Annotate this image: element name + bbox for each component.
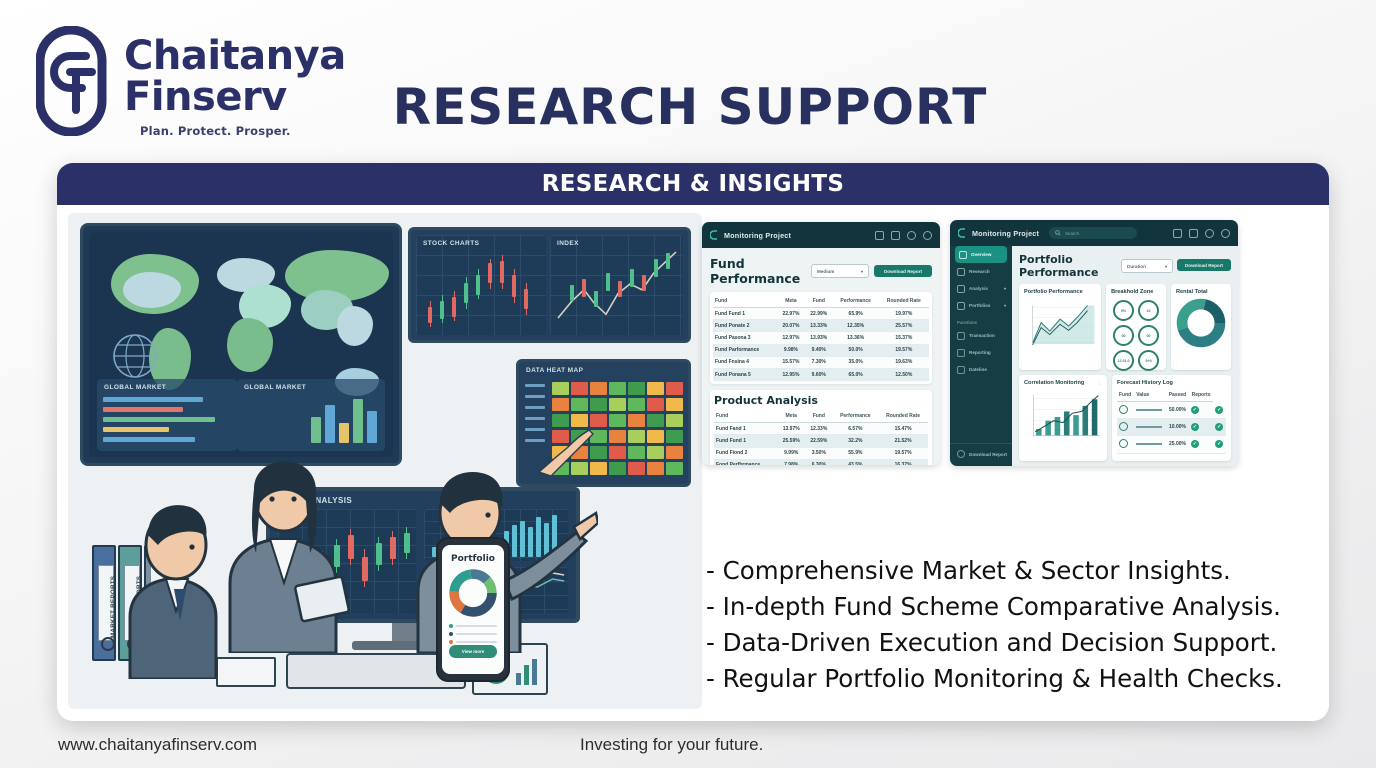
table-cell: 9.40% <box>805 344 833 356</box>
table-cell: Fund Fund 1 <box>713 308 777 320</box>
card-title: Breakhold Zone <box>1111 289 1161 295</box>
bullet-item-2: - In-depth Fund Scheme Comparative Analy… <box>706 589 1306 625</box>
column-header: Value <box>1134 389 1166 402</box>
bar-line-chart <box>1024 389 1102 445</box>
heat-map-cell[interactable] <box>571 398 588 411</box>
heat-map-cell[interactable] <box>666 398 683 411</box>
metric-ring-value: 00 <box>1147 334 1151 338</box>
table-cell: Fund Ponate 2 <box>713 320 777 332</box>
metric-ring-value: 10 <box>1147 309 1151 313</box>
column-header: Passed <box>1166 389 1189 402</box>
table-cell: 13.36% <box>833 332 879 344</box>
check-icon: ✓ <box>1189 402 1213 419</box>
sidebar-item-overview[interactable]: Overview <box>955 246 1007 263</box>
bullet-item-4: - Regular Portfolio Monitoring & Health … <box>706 661 1306 697</box>
column-header: Fund <box>713 295 777 308</box>
table-cell: Fund Pasona 3 <box>713 332 777 344</box>
sidebar-item-transaction[interactable]: Transaction <box>950 327 1012 344</box>
table-cell: 25.00% <box>1166 436 1189 453</box>
table-cell: 9.60% <box>805 368 833 380</box>
search-icon <box>1055 230 1061 236</box>
table-cell: 43.5% <box>833 459 879 465</box>
rental-total-card: Rental Total <box>1171 284 1231 370</box>
gear-icon[interactable] <box>907 231 916 240</box>
duration-value: Duration <box>1127 264 1146 269</box>
metric-ring-value: 0% <box>1121 309 1126 313</box>
chevron-down-icon: ▾ <box>1165 264 1167 269</box>
heat-map-cell[interactable] <box>647 382 664 395</box>
more-icon[interactable]: ⋮ <box>1097 380 1102 386</box>
table-cell: 12.95% <box>777 368 805 380</box>
table-cell: 20.07% <box>777 320 805 332</box>
sidebar-item-label: Dateline <box>969 367 987 372</box>
search-input[interactable]: Search <box>1049 227 1137 239</box>
portfolio-donut-chart <box>448 568 498 618</box>
download-report-label: Download Report <box>1185 263 1223 268</box>
column-header: Meta <box>777 410 805 423</box>
chevron-down-icon: ▾ <box>861 269 863 274</box>
row-avatar-icon <box>1117 436 1134 453</box>
column-header: Fund <box>805 295 833 308</box>
row-avatar-icon <box>1117 419 1134 436</box>
column-header: Meta <box>777 295 805 308</box>
legend-dot-icon <box>449 632 453 636</box>
heat-map-cell[interactable] <box>628 414 645 427</box>
table-cell: 12.50% <box>879 368 929 380</box>
metric-ring: 00 <box>1113 325 1134 346</box>
world-map-panel-label: GLOBAL MARKET <box>104 384 166 391</box>
table-cell: 3.50% <box>805 447 833 459</box>
phone-title: Portfolio <box>442 554 504 564</box>
footer-website[interactable]: www.chaitanyafinserv.com <box>58 735 257 755</box>
download-report-button[interactable]: Download Report <box>1177 259 1231 271</box>
heat-map-cell[interactable] <box>628 398 645 411</box>
feature-bullet-list: - Comprehensive Market & Sector Insights… <box>706 553 1306 697</box>
row-value-bar <box>1134 419 1166 436</box>
app-logo-icon <box>958 228 967 239</box>
table-cell: 19.63% <box>879 356 929 368</box>
dashboard-sidebar: OverviewResearchAnalysis▾Portfolios▾ Fun… <box>950 246 1012 466</box>
sidebar-item-label: Reporting <box>969 350 991 355</box>
table-cell: 50.0% <box>833 344 879 356</box>
table-cell: 22.59% <box>805 435 833 447</box>
correlation-monitoring-card: Correlation Monitoring ⋮ <box>1019 375 1107 461</box>
table-row[interactable]: Fund Ponate 220.07%13.33%12.35%25.57% <box>713 320 929 332</box>
forecast-history-table: FundValuePassedReports 50.00%✓✓10.00%✓✓2… <box>1117 389 1226 454</box>
download-icon <box>957 450 965 458</box>
sidebar-item-reporting[interactable]: Reporting <box>950 344 1012 361</box>
page-header: Chaitanya Finserv Plan. Protect. Prosper… <box>0 0 1376 160</box>
table-cell: 50.00% <box>1166 402 1189 419</box>
metric-ring: 00 <box>1138 325 1159 346</box>
heat-map-cell[interactable] <box>666 414 683 427</box>
portfolio-performance-card: Portfolio Performance <box>1019 284 1101 370</box>
bell-icon[interactable] <box>1189 229 1198 238</box>
table-cell: 55.9% <box>833 447 879 459</box>
search-placeholder: Search <box>1065 231 1079 236</box>
user-icon[interactable] <box>923 231 932 240</box>
table-cell: 65.0% <box>833 368 879 380</box>
table-cell: 21.52% <box>878 435 928 447</box>
document-icon <box>957 268 965 276</box>
phone-cta-button[interactable]: View more <box>449 645 497 658</box>
table-cell: Fund Fiond 2 <box>714 447 777 459</box>
sidebar-item-label: Transaction <box>969 333 995 338</box>
table-row[interactable]: Fund Parformance9.98%9.40%50.0%19.57% <box>713 344 929 356</box>
card-title: Rental Total <box>1176 289 1226 295</box>
user-icon[interactable] <box>1221 229 1230 238</box>
refresh-icon[interactable] <box>875 231 884 240</box>
sidebar-item-analysis[interactable]: Analysis▾ <box>950 280 1012 297</box>
heat-map-cell[interactable] <box>571 382 588 395</box>
sidebar-item-portfolios[interactable]: Portfolios▾ <box>950 297 1012 314</box>
table-cell: 12.97% <box>777 332 805 344</box>
table-row[interactable]: Fund Fund 122.97%22.99%65.9%19.97% <box>713 308 929 320</box>
app-logo-icon <box>710 230 719 241</box>
report-icon <box>957 349 965 357</box>
column-header: Fund <box>1117 389 1134 402</box>
table-cell: 19.57% <box>879 344 929 356</box>
fund-performance-heading: Fund Performance <box>710 256 811 286</box>
download-report-button[interactable]: Download Report <box>874 265 932 277</box>
heat-map-cell[interactable] <box>552 398 569 411</box>
table-row[interactable]: Fund Fand 113.97%12.33%6.57%15.47% <box>714 423 928 435</box>
area-line-chart <box>1024 298 1096 354</box>
metric-ring: 0+0 <box>1138 350 1159 371</box>
heat-map-cell[interactable] <box>647 462 664 475</box>
check-icon: ✓ <box>1189 419 1213 436</box>
dashboard-main-area: Portfolio Performance Duration ▾ Downloa… <box>1012 246 1238 466</box>
table-cell: 12.35% <box>833 320 879 332</box>
heat-map-cell[interactable] <box>609 382 626 395</box>
portfolio-performance-heading: Portfolio Performance <box>1019 253 1121 279</box>
brand-tagline: Plan. Protect. Prosper. <box>140 124 346 138</box>
heat-map-cell[interactable] <box>666 430 683 443</box>
gear-icon[interactable] <box>1205 229 1214 238</box>
metric-ring: 0% <box>1113 300 1134 321</box>
product-analysis-table: FundMetaFundPerformanceRounded Rate Fund… <box>714 410 928 465</box>
section-banner: RESEARCH & INSIGHTS <box>57 163 1329 205</box>
table-row[interactable]: 25.00%✓✓ <box>1117 436 1226 453</box>
table-cell: 15.57% <box>777 356 805 368</box>
card-title: Portfolio Performance <box>1024 289 1096 295</box>
stock-charts-label: STOCK CHARTS <box>423 240 479 247</box>
table-row[interactable]: Fund Fund 125.59%22.59%32.2%21.52% <box>714 435 928 447</box>
heat-map-cell[interactable] <box>628 382 645 395</box>
bullet-item-1: - Comprehensive Market & Sector Insights… <box>706 553 1306 589</box>
table-cell: 6.57% <box>833 423 879 435</box>
metric-ring-value: 00 <box>1122 334 1126 338</box>
stock-charts-screen: STOCK CHARTS INDEX <box>408 227 691 343</box>
heat-map-cell[interactable] <box>609 462 626 475</box>
sidebar-item-label: Portfolios <box>969 303 990 308</box>
column-header: Rounded Rate <box>879 295 929 308</box>
table-cell: 22.99% <box>805 308 833 320</box>
sidebar-item-download-report[interactable]: Download Report <box>950 443 1012 460</box>
metric-ring: 12 01.0 <box>1113 350 1134 371</box>
heat-map-cell[interactable] <box>647 446 664 459</box>
table-header-row: FundMetaFundPerformanceRounded Rate <box>713 295 929 308</box>
fund-performance-dashboard[interactable]: Monitoring Project Fund Performance Medi… <box>702 222 940 465</box>
table-cell: 16.37% <box>878 459 928 465</box>
section-banner-label: RESEARCH & INSIGHTS <box>542 171 844 197</box>
chevron-down-icon: ▾ <box>1004 286 1006 291</box>
table-cell: 15.47% <box>878 423 928 435</box>
legend-dot-icon <box>449 640 453 644</box>
table-cell: 9.98% <box>777 344 805 356</box>
table-row[interactable]: Fund Pasona 312.97%13.93%13.36%15.37% <box>713 332 929 344</box>
table-cell: 22.97% <box>777 308 805 320</box>
column-header: Rounded Rate <box>878 410 928 423</box>
table-cell: 15.37% <box>879 332 929 344</box>
table-header-row: FundMetaFundPerformanceRounded Rate <box>714 410 928 423</box>
heat-map-cell[interactable] <box>609 414 626 427</box>
table-cell: 35.0% <box>833 356 879 368</box>
table-cell: 13.93% <box>805 332 833 344</box>
sidebar-footer-label: Download Report <box>969 452 1007 457</box>
heat-map-cell[interactable] <box>666 382 683 395</box>
metric-ring-value: 0+0 <box>1145 359 1151 363</box>
card-title: Correlation Monitoring <box>1024 380 1084 386</box>
sidebar-section-label: Functions <box>950 320 1012 325</box>
bell-icon[interactable] <box>891 231 900 240</box>
phone-cta-label: View more <box>462 649 484 654</box>
table-cell: Fund Fand 1 <box>714 423 777 435</box>
grid-icon <box>957 302 965 310</box>
table-cell: 10.00% <box>1166 419 1189 436</box>
table-row[interactable]: Fund Ponana 512.95%9.60%65.0%12.50% <box>713 368 929 380</box>
table-cell: 32.2% <box>833 435 879 447</box>
check-icon: ✓ <box>1189 436 1213 453</box>
check-icon: ✓ <box>1213 436 1226 453</box>
heat-map-cell[interactable] <box>628 430 645 443</box>
row-value-bar <box>1134 402 1166 419</box>
heat-map-cell[interactable] <box>647 414 664 427</box>
table-cell: 7.98% <box>777 459 805 465</box>
check-icon: ✓ <box>1213 402 1226 419</box>
chevron-down-icon: ▾ <box>1004 303 1006 308</box>
heat-map-cell[interactable] <box>609 430 626 443</box>
heat-map-cell[interactable] <box>647 430 664 443</box>
dashboard-titlebar: Monitoring Project <box>702 222 940 248</box>
sidebar-item-label: Overview <box>971 252 991 257</box>
table-cell: Fund Fnsina 4 <box>713 356 777 368</box>
sidebar-item-dateline[interactable]: Dateline <box>950 361 1012 378</box>
table-cell: 65.9% <box>833 308 879 320</box>
metric-ring: 10 <box>1138 300 1159 321</box>
brand-logo: Chaitanya Finserv Plan. Protect. Prosper… <box>36 22 286 144</box>
download-report-label: Download Report <box>884 269 922 274</box>
footer-slogan: Investing for your future. <box>580 735 763 755</box>
heatmap-label: DATA HEAT MAP <box>526 367 583 374</box>
table-cell: 7.30% <box>805 356 833 368</box>
brand-name-line2: Finserv <box>124 77 346 118</box>
metric-ring-value: 12 01.0 <box>1118 359 1130 363</box>
column-header: Fund <box>805 410 833 423</box>
heat-map-cell[interactable] <box>590 382 607 395</box>
table-cell: Fund Ponana 5 <box>713 368 777 380</box>
table-cell: 25.59% <box>777 435 805 447</box>
column-header: Reports <box>1189 389 1213 402</box>
row-avatar-icon <box>1117 402 1134 419</box>
dashboard-titlebar: Monitoring Project Search <box>950 220 1238 246</box>
check-icon: ✓ <box>1213 419 1226 436</box>
bullet-item-3: - Data-Driven Execution and Decision Sup… <box>706 625 1306 661</box>
table-cell: 19.57% <box>878 447 928 459</box>
table-cell: Fund Parformance <box>713 344 777 356</box>
table-cell: Fond Perfbrmance <box>714 459 777 465</box>
portfolio-performance-dashboard[interactable]: Monitoring Project Search OverviewResear… <box>950 220 1238 466</box>
table-row[interactable]: 10.00%✓✓ <box>1117 419 1226 436</box>
filter-value: Medium <box>817 269 834 274</box>
table-header-row: FundValuePassedReports <box>1117 389 1226 402</box>
legend-dot-icon <box>449 624 453 628</box>
dashboard-window-title: Monitoring Project <box>972 229 1039 238</box>
cf-monogram-icon <box>36 26 108 136</box>
card-title: Forecast History Log <box>1117 380 1226 386</box>
heat-map-cell[interactable] <box>666 462 683 475</box>
brand-name-line1: Chaitanya <box>124 36 346 77</box>
world-map-panel-label-2: GLOBAL MARKET <box>244 384 306 391</box>
breakhold-zone-card: Breakhold Zone 0%10000012 01.00+0 <box>1106 284 1166 370</box>
table-cell: 19.97% <box>879 308 929 320</box>
table-cell: 13.97% <box>777 423 805 435</box>
forecast-history-log-card: Forecast History Log FundValuePassedRepo… <box>1112 375 1231 461</box>
calendar-icon <box>957 366 965 374</box>
rental-donut-chart <box>1176 298 1226 348</box>
dashboard-window-title: Monitoring Project <box>724 231 791 240</box>
column-header: Performance <box>833 410 879 423</box>
refresh-icon[interactable] <box>1173 229 1182 238</box>
sidebar-item-research[interactable]: Research <box>950 263 1012 280</box>
table-cell: Fund Fund 1 <box>714 435 777 447</box>
sidebar-item-label: Analysis <box>969 286 988 291</box>
globe-icon <box>111 332 159 380</box>
chart-icon <box>957 285 965 293</box>
research-team-illustration: GLOBAL MARKET GLOBAL MARKET <box>68 213 702 709</box>
duration-dropdown[interactable]: Duration ▾ <box>1121 259 1173 273</box>
sidebar-item-label: Research <box>969 269 990 274</box>
analyst-person-middle <box>214 423 354 653</box>
table-cell: 12.33% <box>805 423 833 435</box>
page-title: RESEARCH SUPPORT <box>330 78 1050 136</box>
heat-map-cell[interactable] <box>609 446 626 459</box>
column-header: Performance <box>833 295 879 308</box>
table-cell: 25.57% <box>879 320 929 332</box>
table-row[interactable]: Fund Fnsina 415.57%7.30%35.0%19.63% <box>713 356 929 368</box>
heat-map-cell[interactable] <box>666 446 683 459</box>
table-row[interactable]: 50.00%✓✓ <box>1117 402 1226 419</box>
mobile-portfolio-app: Portfolio View more <box>436 537 510 682</box>
exchange-icon <box>957 332 965 340</box>
table-row[interactable]: Fond Perfbrmance7.98%6.30%43.5%16.37% <box>714 459 928 465</box>
heat-map-cell[interactable] <box>647 398 664 411</box>
table-cell: 6.30% <box>805 459 833 465</box>
table-cell: 13.33% <box>805 320 833 332</box>
filter-dropdown[interactable]: Medium ▾ <box>811 264 869 278</box>
content-card: RESEARCH & INSIGHTS <box>57 163 1329 721</box>
fund-performance-table: FundMetaFundPerformanceRounded Rate Fund… <box>713 295 929 381</box>
product-analysis-heading: Product Analysis <box>714 394 928 407</box>
column-header: Fund <box>714 410 777 423</box>
table-row[interactable]: Fund Fiond 29.99%3.50%55.9%19.57% <box>714 447 928 459</box>
heat-map-cell[interactable] <box>590 398 607 411</box>
table-cell: 9.99% <box>777 447 805 459</box>
heat-map-cell[interactable] <box>552 382 569 395</box>
dashboard-icon <box>959 251 967 259</box>
heat-map-cell[interactable] <box>628 446 645 459</box>
heat-map-cell[interactable] <box>609 398 626 411</box>
row-value-bar <box>1134 436 1166 453</box>
heat-map-cell[interactable] <box>628 462 645 475</box>
